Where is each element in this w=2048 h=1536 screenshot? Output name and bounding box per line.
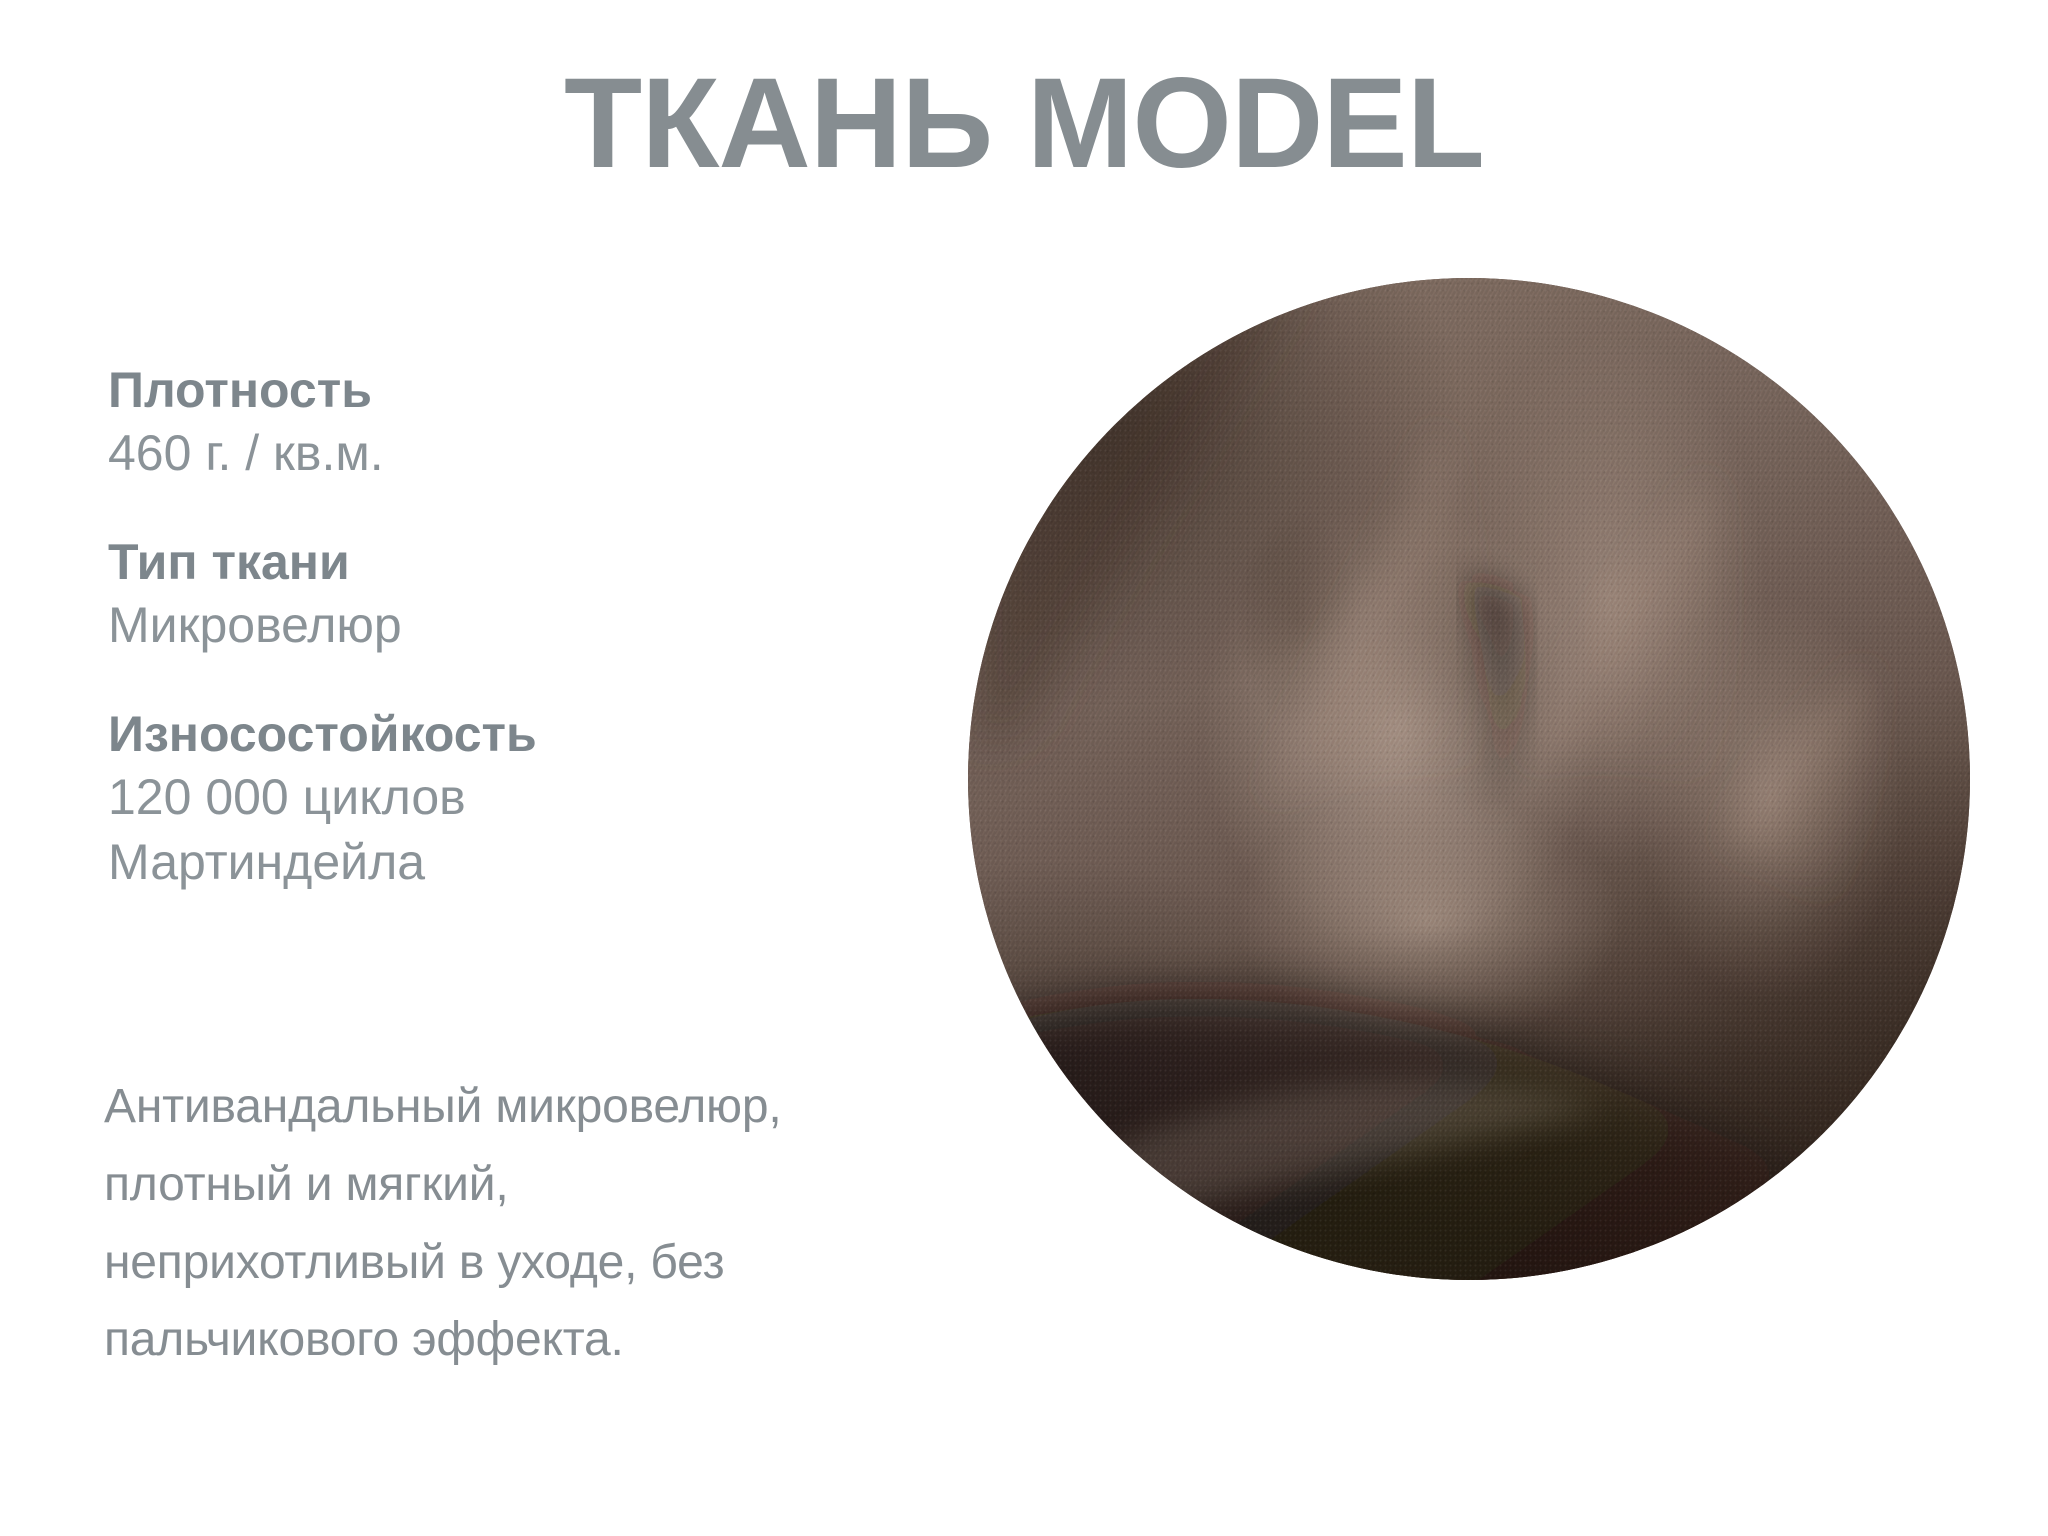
spec-list: Плотность 460 г. / кв.м. Тип ткани Микро…	[108, 360, 928, 895]
spec-label: Износостойкость	[108, 704, 928, 765]
description-line: неприхотливый в уходе, без	[104, 1224, 1044, 1302]
spec-item-fabric-type: Тип ткани Микровелюр	[108, 532, 928, 658]
description-line: Антивандальный микровелюр,	[104, 1068, 1044, 1146]
spec-value: Микровелюр	[108, 593, 928, 658]
spec-item-density: Плотность 460 г. / кв.м.	[108, 360, 928, 486]
fabric-speckle-layer	[968, 278, 1970, 1280]
spec-item-durability: Износостойкость 120 000 циклов Мартиндей…	[108, 704, 928, 895]
page-title: ТКАНЬ MODEL	[0, 50, 2048, 197]
spec-value: 120 000 циклов Мартиндейла	[108, 765, 928, 895]
spec-value-line: Микровелюр	[108, 593, 928, 658]
spec-value-line: 120 000 циклов	[108, 765, 928, 830]
spec-value-line: 460 г. / кв.м.	[108, 421, 928, 486]
spec-label: Плотность	[108, 360, 928, 421]
spec-value: 460 г. / кв.м.	[108, 421, 928, 486]
description-line: пальчикового эффекта.	[104, 1301, 1044, 1379]
description-paragraph: Антивандальный микровелюр, плотный и мяг…	[104, 1068, 1044, 1379]
fabric-photo	[968, 278, 1970, 1280]
slide-root: ТКАНЬ MODEL Плотность 460 г. / кв.м. Тип…	[0, 0, 2048, 1536]
description-line: плотный и мягкий,	[104, 1146, 1044, 1224]
spec-label: Тип ткани	[108, 532, 928, 593]
spec-value-line: Мартиндейла	[108, 830, 928, 895]
